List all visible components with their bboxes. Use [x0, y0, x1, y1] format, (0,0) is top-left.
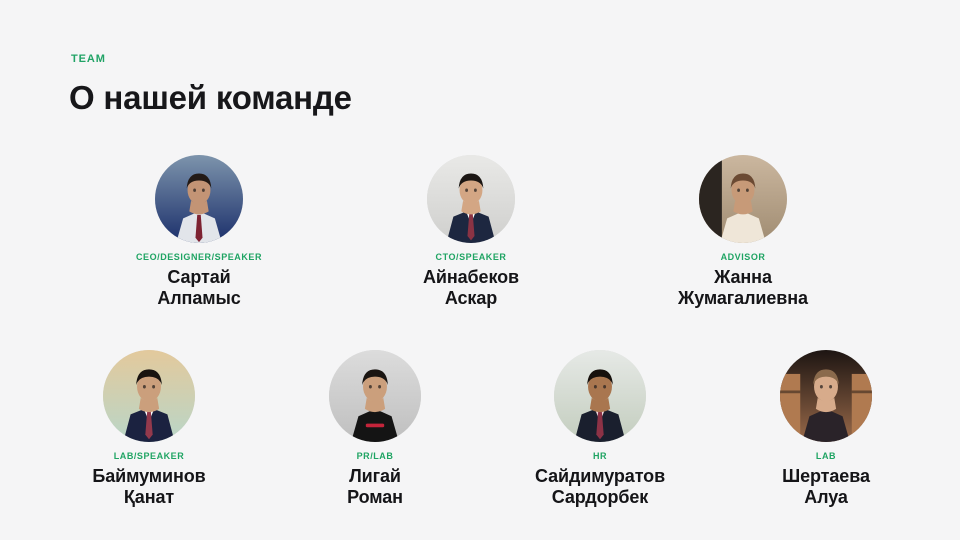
team-member-card: CTO/SPEAKERАйнабеков Аскар	[356, 155, 586, 309]
team-member-card: HRСайдимуратов Сардорбек	[485, 350, 715, 508]
member-role-label: CEO/DESIGNER/SPEAKER	[84, 252, 314, 263]
member-role-label: LAB	[711, 451, 941, 462]
member-role-label: ADVISOR	[628, 252, 858, 263]
avatar-wrapper	[356, 155, 586, 243]
member-name: Шертаева Алуа	[711, 466, 941, 508]
member-name: Баймуминов Қанат	[34, 466, 264, 508]
avatar-wrapper	[84, 155, 314, 243]
avatar-wrapper	[34, 350, 264, 442]
member-role-label: PR/LAB	[260, 451, 490, 462]
member-name: Айнабеков Аскар	[356, 267, 586, 309]
team-member-card: ADVISORЖанна Жумагалиевна	[628, 155, 858, 309]
page-title: О нашей команде	[69, 78, 352, 118]
avatar-photo-ligai-roman	[329, 350, 421, 442]
avatar-photo-shertaeva-alua	[780, 350, 872, 442]
member-name: Сартай Алпамыс	[84, 267, 314, 309]
team-member-card: LAB/SPEAKERБаймуминов Қанат	[34, 350, 264, 508]
avatar-photo-saidimuratov-sardorbek	[554, 350, 646, 442]
member-name: Жанна Жумагалиевна	[628, 267, 858, 309]
member-role-label: HR	[485, 451, 715, 462]
avatar-photo-zhanna-zhumagalievna	[699, 155, 787, 243]
avatar-wrapper	[711, 350, 941, 442]
team-member-card: PR/LABЛигай Роман	[260, 350, 490, 508]
team-member-card: CEO/DESIGNER/SPEAKERСартай Алпамыс	[84, 155, 314, 309]
avatar-photo-baimuminov-qanat	[103, 350, 195, 442]
member-name: Сайдимуратов Сардорбек	[485, 466, 715, 508]
member-role-label: CTO/SPEAKER	[356, 252, 586, 263]
team-slide: TEAM О нашей команде CEO/DESIGNER/SPEAKE…	[0, 0, 960, 540]
section-eyebrow-label: TEAM	[71, 52, 106, 66]
member-role-label: LAB/SPEAKER	[34, 451, 264, 462]
avatar-wrapper	[628, 155, 858, 243]
avatar-photo-ainabekov-askar	[427, 155, 515, 243]
member-name: Лигай Роман	[260, 466, 490, 508]
avatar-wrapper	[260, 350, 490, 442]
team-member-card: LABШертаева Алуа	[711, 350, 941, 508]
avatar-photo-sartai-alpamys	[155, 155, 243, 243]
avatar-wrapper	[485, 350, 715, 442]
